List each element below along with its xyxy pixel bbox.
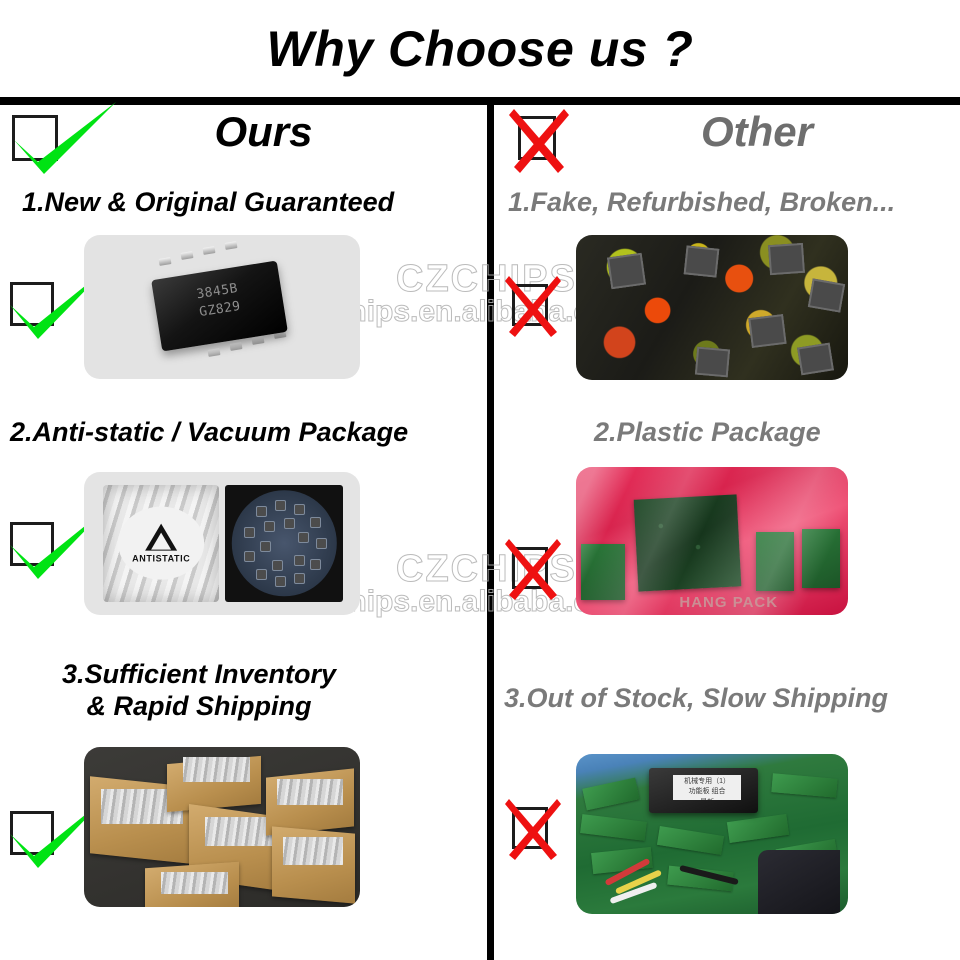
checkbox-other-3: [512, 807, 548, 849]
photo-fake-refurbished-chips: [576, 235, 848, 380]
checkbox-other-2: [512, 547, 548, 589]
chip-pin: [252, 336, 265, 345]
chip-pin: [158, 257, 171, 266]
column-ours: Ours 1.New & Original Guaranteed 3845B G…: [0, 105, 487, 960]
column-label-ours: Ours: [0, 109, 507, 155]
tray-cell: [244, 551, 255, 562]
feature-ours-1: 1.New & Original Guaranteed 3845B GZ829: [0, 187, 487, 415]
photo-antistatic-vacuum-package: ANTISTATIC: [84, 472, 360, 615]
feature-other-3: 3.Out of Stock, Slow Shipping 机械专用（1） 功能…: [494, 659, 960, 959]
black-module: 机械专用（1） 功能板 组合 最新: [649, 768, 758, 813]
tray-cell: [264, 521, 275, 532]
feature-ours-3: 3.Sufficient Inventory & Rapid Shipping: [0, 659, 487, 959]
tray-cell: [310, 559, 321, 570]
column-divider-vertical: [487, 105, 494, 960]
tray-cell: [310, 517, 321, 528]
antistatic-label-disc: ANTISTATIC: [118, 507, 204, 580]
checkbox-ours-2: [10, 522, 54, 566]
feature-other-1-title: 1.Fake, Refurbished, Broken...: [508, 187, 895, 219]
feature-other-1: 1.Fake, Refurbished, Broken...: [494, 187, 960, 415]
photo-electronic-waste: 机械专用（1） 功能板 组合 最新: [576, 754, 848, 914]
feature-other-2: 2.Plastic Package HANG PACK: [494, 417, 960, 657]
scrap-die: [768, 242, 805, 275]
tray-cell: [284, 518, 295, 529]
tray-cell: [298, 532, 309, 543]
page-title-bar: Why Choose us ?: [0, 0, 960, 97]
tray-cell: [256, 569, 267, 580]
chip-package-body: 3845B GZ829: [151, 260, 288, 351]
chip-pin: [208, 348, 221, 357]
feature-ours-1-title: 1.New & Original Guaranteed: [22, 187, 394, 219]
tray-cell: [275, 500, 286, 511]
pcb-shard: [656, 826, 723, 855]
header-divider-horizontal: [0, 97, 960, 105]
photo-inventory-boxes: [84, 747, 360, 907]
feature-other-3-title: 3.Out of Stock, Slow Shipping: [504, 683, 888, 715]
scrap-die: [607, 253, 646, 290]
tray-cell: [260, 541, 271, 552]
box-contents: [161, 872, 227, 894]
scrap-die: [797, 343, 834, 375]
column-header-other: Other: [494, 105, 960, 180]
photo-plastic-package: HANG PACK: [576, 467, 848, 615]
scrap-die: [695, 347, 730, 377]
hazard-triangle-icon: [145, 523, 177, 550]
tray-cell: [244, 527, 255, 538]
page-title: Why Choose us ?: [267, 24, 694, 74]
tray-cell: [294, 504, 305, 515]
scrap-die: [748, 314, 787, 349]
scrap-die: [683, 245, 718, 277]
box-contents: [277, 779, 343, 805]
black-bag: [758, 850, 840, 914]
chip-pin: [224, 241, 237, 250]
photo-new-original-chip: 3845B GZ829: [84, 235, 360, 379]
antistatic-label-text: ANTISTATIC: [132, 553, 190, 563]
pcb-shard: [581, 814, 648, 841]
checkbox-other-1: [512, 284, 548, 326]
comparison-infographic: Why Choose us ? CZCHIPS czchips.en.aliba…: [0, 0, 960, 960]
tray-cell: [272, 560, 283, 571]
pcb-shard: [727, 814, 789, 843]
tray-cell: [294, 573, 305, 584]
pcb-shard: [582, 777, 640, 810]
chip-marking-text: 3845B GZ829: [153, 273, 284, 328]
box-contents: [283, 837, 344, 866]
chip-pin: [180, 251, 193, 260]
tray-cell: [316, 538, 327, 549]
checkbox-ours-1: [10, 282, 54, 326]
feature-ours-2-title: 2.Anti-static / Vacuum Package: [10, 417, 408, 449]
pcb-shard: [771, 774, 838, 799]
checkbox-ours-3: [10, 811, 54, 855]
scrap-die: [808, 279, 845, 313]
chip-pin: [230, 342, 243, 351]
antistatic-bag: ANTISTATIC: [103, 485, 219, 602]
feature-ours-2: 2.Anti-static / Vacuum Package ANTISTATI…: [0, 417, 487, 657]
component-tray: [225, 485, 344, 602]
box-contents: [183, 757, 249, 783]
plastic-pack-text: HANG PACK: [679, 594, 778, 611]
module-label-text: 机械专用（1） 功能板 组合 最新: [673, 775, 740, 800]
feature-ours-3-title: 3.Sufficient Inventory & Rapid Shipping: [62, 659, 336, 723]
column-header-ours: Ours: [0, 105, 487, 180]
column-label-other: Other: [494, 109, 960, 155]
column-other: Other 1.Fake, Refurbished, Broken... 2: [494, 105, 960, 960]
tray-cell: [256, 506, 267, 517]
chip-pin: [202, 246, 215, 255]
tray-cell: [294, 555, 305, 566]
feature-other-2-title: 2.Plastic Package: [594, 417, 821, 449]
tray-cell: [275, 576, 286, 587]
